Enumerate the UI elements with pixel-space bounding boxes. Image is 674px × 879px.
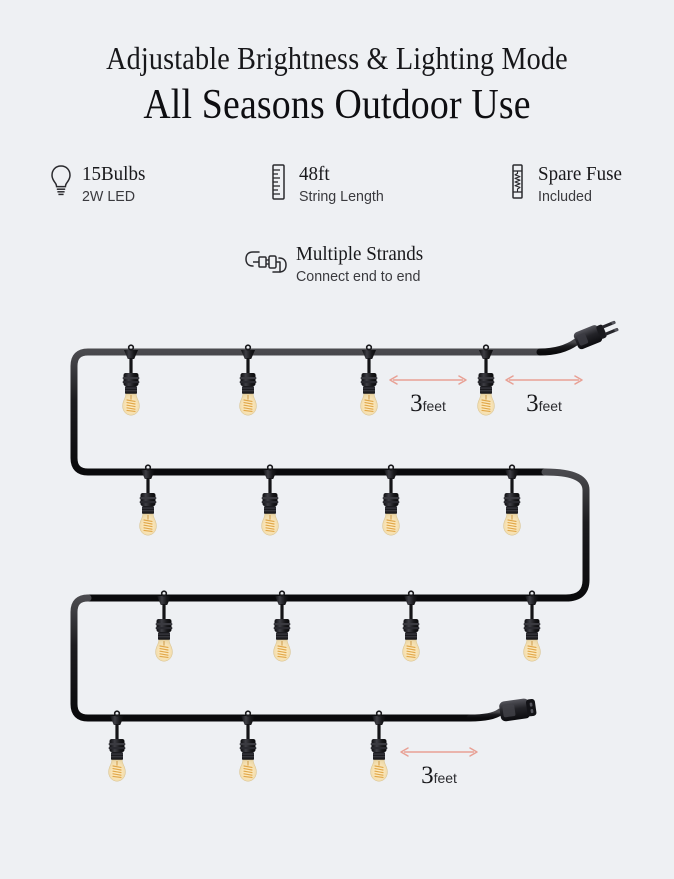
bulb-icon [48,162,74,202]
bulb-row-4 [109,711,388,781]
bulb [371,711,388,781]
socket-end-connector-icon [499,697,537,722]
feature-fuse-subtitle: Included [538,187,622,207]
feature-length-text: 48ft String Length [299,162,388,207]
bulb [274,591,291,661]
two-prong-plug-icon [573,317,621,350]
bulb [109,711,126,781]
feature-fuse: Spare Fuse Included [504,162,626,207]
bulb [140,465,157,535]
feature-length-subtitle: String Length [299,187,384,207]
feature-bulbs-subtitle: 2W LED [82,187,145,207]
bulb [504,465,521,535]
measure-label-2-unit: feet [539,398,562,414]
bulb [123,345,140,415]
headline-block: Adjustable Brightness & Lighting Mode Al… [0,38,674,130]
measure-label-2: 3feet [505,390,583,418]
plug-connector-icon [244,242,288,282]
feature-strands-title: Multiple Strands [296,243,423,265]
headline-subtitle: Adjustable Brightness & Lighting Mode [40,38,633,78]
bulb-row-3 [156,591,541,661]
feature-list-bottom: Multiple Strands Connect end to end [0,242,674,287]
measure-label-1-number: 3 [410,390,423,417]
measure-label-3-unit: feet [434,770,457,786]
measure-label-3-number: 3 [421,762,434,789]
measure-arrow-2 [506,376,582,384]
bulb [478,345,495,415]
feature-length-title: 48ft [299,163,384,185]
bulb-row-2 [140,465,521,535]
feature-strands-text: Multiple Strands Connect end to end [296,242,430,287]
feature-bulbs: 15Bulbs 2W LED [48,162,149,207]
feature-fuse-title: Spare Fuse [538,163,622,185]
bulb [262,465,279,535]
bulb [240,711,257,781]
bulb [240,345,257,415]
bulb [403,591,420,661]
bulb [383,465,400,535]
product-infographic: Adjustable Brightness & Lighting Mode Al… [0,0,674,879]
bulb [156,591,173,661]
measure-label-2-number: 3 [526,390,539,417]
feature-bulbs-text: 15Bulbs 2W LED [82,162,149,207]
feature-strands-subtitle: Connect end to end [296,267,423,287]
feature-strands: Multiple Strands Connect end to end [244,242,430,287]
measure-label-3: 3feet [400,762,478,790]
measure-arrow-3 [401,748,477,756]
measure-arrow-1 [390,376,466,384]
ruler-icon [265,162,291,202]
feature-length: 48ft String Length [265,162,388,207]
feature-list-top: 15Bulbs 2W LED 48ft String Leng [0,162,674,207]
headline-title: All Seasons Outdoor Use [34,80,641,130]
measure-label-1-unit: feet [423,398,446,414]
measure-label-1: 3feet [389,390,467,418]
fuse-icon [504,162,530,202]
bulb [361,345,378,415]
string-light-diagram [0,300,674,860]
feature-bulbs-title: 15Bulbs [82,163,145,185]
bulb [524,591,541,661]
feature-fuse-text: Spare Fuse Included [538,162,626,207]
